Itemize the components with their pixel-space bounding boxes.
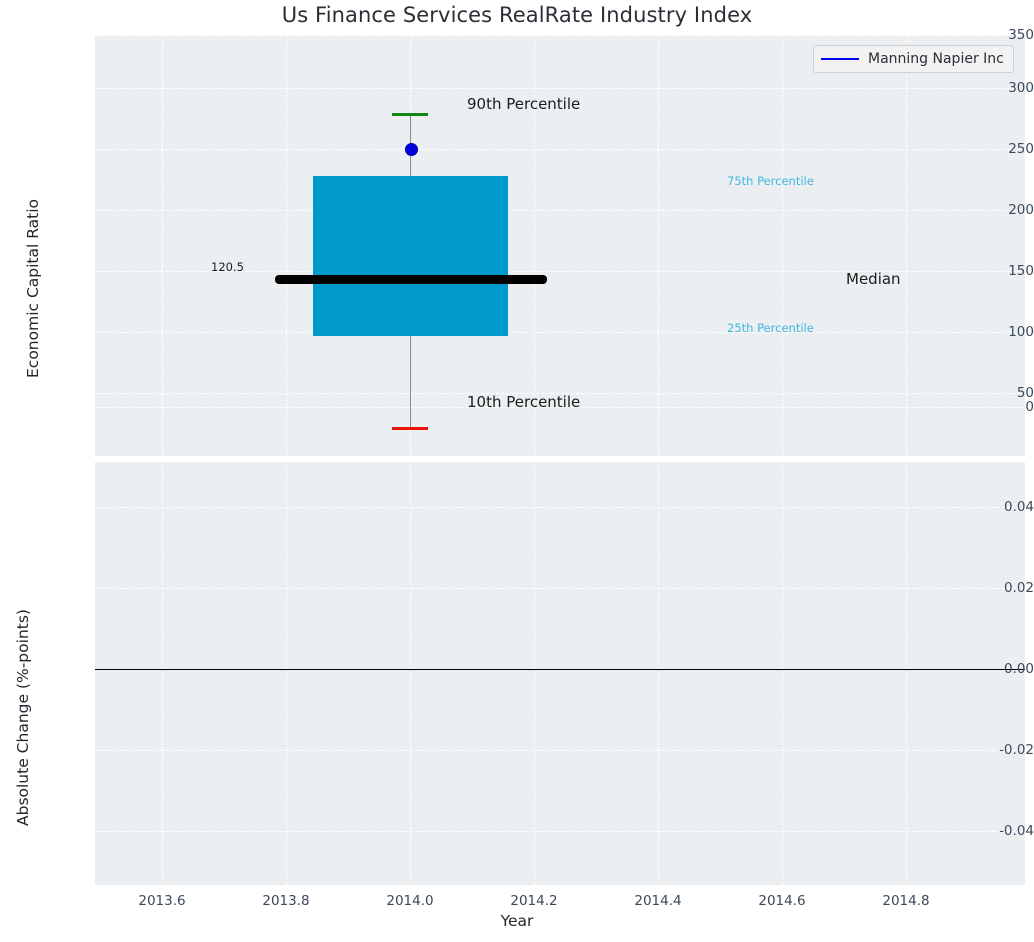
x-tick-label: 2014.4 <box>613 893 703 909</box>
gridline-horizontal <box>95 588 1025 589</box>
gridline-horizontal <box>95 35 1025 36</box>
legend-line-icon <box>821 58 859 60</box>
gridline-vertical <box>658 462 659 885</box>
annotation-p10: 10th Percentile <box>467 393 580 411</box>
top-panel-y-axis-label: Economic Capital Ratio <box>24 199 42 378</box>
gridline-horizontal <box>95 332 1025 333</box>
annotation-p90: 90th Percentile <box>467 95 580 113</box>
gridline-horizontal <box>95 210 1025 211</box>
gridline-vertical <box>410 462 411 885</box>
y-tick-label: -0.04 <box>972 823 1034 839</box>
gridline-horizontal <box>95 149 1025 150</box>
zero-reference-line <box>95 669 1025 670</box>
top-plot-panel: 90th Percentile 75th Percentile Median 2… <box>95 35 1025 456</box>
bottom-panel-y-axis-label: Absolute Change (%-points) <box>14 609 32 826</box>
annotation-p75: 75th Percentile <box>727 174 814 188</box>
y-tick-label: 150 <box>972 263 1034 279</box>
gridline-vertical <box>534 462 535 885</box>
company-marker-dot[interactable] <box>405 143 418 156</box>
x-tick-label: 2014.0 <box>365 893 455 909</box>
y-tick-label: 200 <box>972 202 1034 218</box>
chart-title: Us Finance Services RealRate Industry In… <box>0 3 1034 27</box>
y-tick-label: 0.02 <box>972 580 1034 596</box>
chart-figure: Us Finance Services RealRate Industry In… <box>0 0 1034 942</box>
y-tick-label: 0.04 <box>972 499 1034 515</box>
x-tick-label: 2014.8 <box>861 893 951 909</box>
x-tick-label: 2013.6 <box>117 893 207 909</box>
y-tick-label: 0 <box>972 399 1034 415</box>
median-line <box>275 275 547 284</box>
annotation-median: Median <box>846 270 901 288</box>
x-tick-label: 2013.8 <box>241 893 331 909</box>
p10-cap <box>392 427 428 430</box>
gridline-horizontal <box>95 88 1025 89</box>
y-tick-label: 350 <box>972 27 1034 43</box>
gridline-horizontal <box>95 831 1025 832</box>
gridline-vertical <box>286 462 287 885</box>
x-axis-label: Year <box>0 912 1034 930</box>
median-value-label: 120.5 <box>211 260 244 274</box>
x-tick-label: 2014.6 <box>737 893 827 909</box>
y-tick-label: -0.02 <box>972 742 1034 758</box>
y-tick-label: 0.00 <box>972 661 1034 677</box>
y-tick-label: 300 <box>972 80 1034 96</box>
gridline-vertical <box>782 462 783 885</box>
x-tick-label: 2014.2 <box>489 893 579 909</box>
gridline-vertical <box>162 462 163 885</box>
p90-cap <box>392 113 428 116</box>
y-tick-label: 100 <box>972 324 1034 340</box>
interquartile-box <box>313 176 508 336</box>
chart-legend[interactable]: Manning Napier Inc <box>813 45 1014 73</box>
gridline-horizontal <box>95 750 1025 751</box>
legend-label: Manning Napier Inc <box>868 51 1004 67</box>
gridline-vertical <box>906 462 907 885</box>
bottom-plot-panel <box>95 462 1025 885</box>
gridline-horizontal <box>95 507 1025 508</box>
y-tick-label: 250 <box>972 141 1034 157</box>
annotation-p25: 25th Percentile <box>727 321 814 335</box>
